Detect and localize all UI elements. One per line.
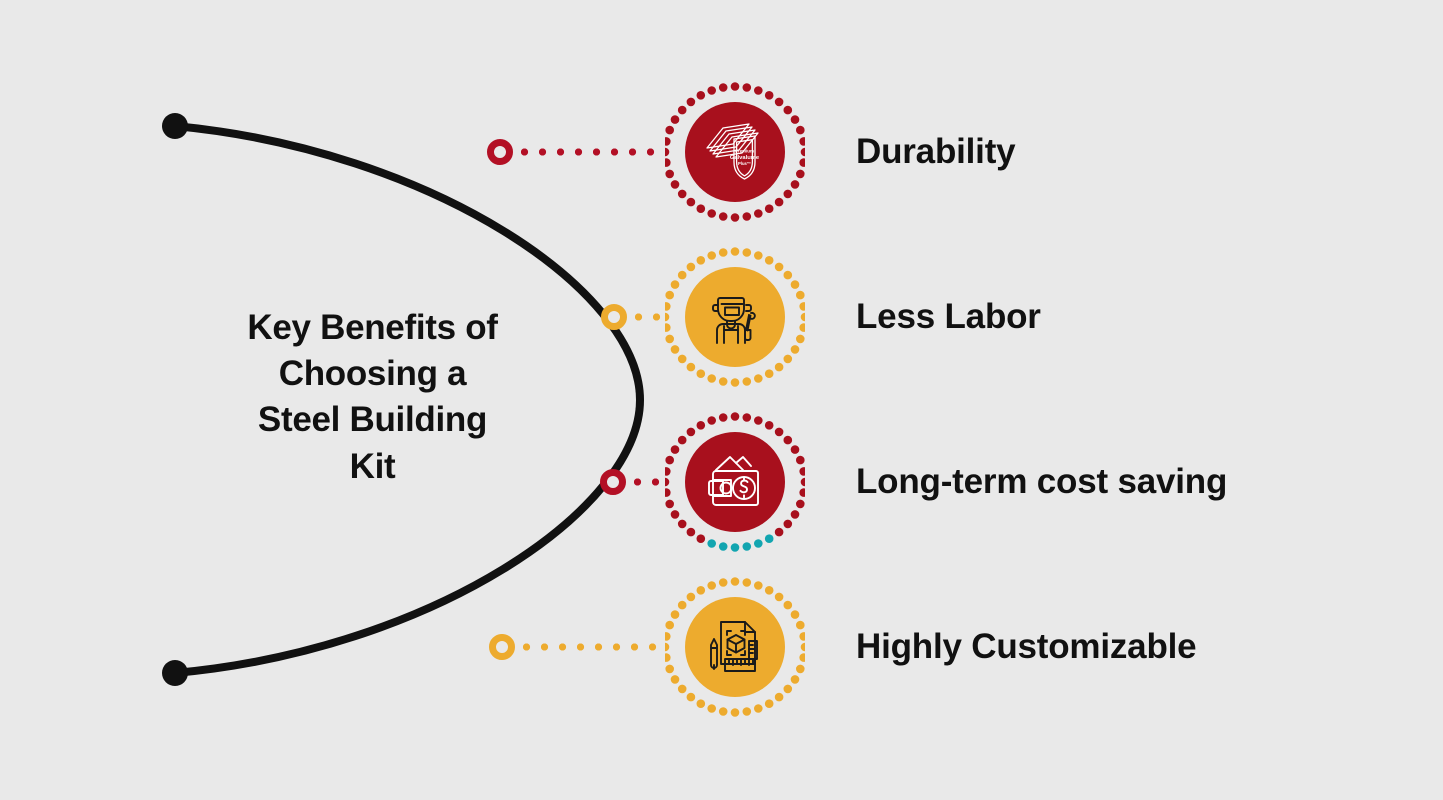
benefit-label-cost-saving: Long-term cost saving bbox=[856, 462, 1227, 502]
arc-endpoint-bottom-dot bbox=[162, 660, 188, 686]
welder-worker-icon bbox=[703, 285, 767, 349]
benefit-icon-badge-less-labor[interactable] bbox=[665, 247, 805, 387]
connector-line-durability bbox=[521, 149, 661, 156]
benefit-icon-badge-cost-saving[interactable] bbox=[665, 412, 805, 552]
connector-line-customizable bbox=[523, 644, 661, 651]
benefit-icon-badge-durability[interactable]: Premium Galvalume Plus™ bbox=[665, 82, 805, 222]
infographic-canvas: Key Benefits of Choosing a Steel Buildin… bbox=[0, 0, 1443, 800]
page-title-line-4: Kit bbox=[185, 444, 560, 490]
page-title-line-3: Steel Building bbox=[185, 397, 560, 443]
benefit-label-durability: Durability bbox=[856, 132, 1015, 172]
page-title-line-2: Choosing a bbox=[185, 351, 560, 397]
connector-line-cost-saving bbox=[634, 479, 664, 486]
arc-node-marker-less-labor[interactable] bbox=[601, 304, 627, 330]
arc-node-marker-cost-saving[interactable] bbox=[600, 469, 626, 495]
page-title: Key Benefits of Choosing a Steel Buildin… bbox=[185, 305, 560, 490]
page-title-line-1: Key Benefits of bbox=[185, 305, 560, 351]
shield-caption-line-3: Plus™ bbox=[738, 161, 751, 166]
badge-dotted-ring-teal-segment bbox=[707, 534, 773, 551]
benefit-label-less-labor: Less Labor bbox=[856, 297, 1041, 337]
galvalume-shield-icon: Premium Galvalume Plus™ bbox=[703, 120, 767, 184]
arc-node-marker-customizable[interactable] bbox=[489, 634, 515, 660]
arc-node-marker-durability[interactable] bbox=[487, 139, 513, 165]
connector-line-less-labor bbox=[635, 314, 663, 321]
benefit-label-customizable: Highly Customizable bbox=[856, 627, 1196, 667]
shield-caption-line-1: Premium bbox=[735, 149, 754, 154]
benefit-icon-badge-customizable[interactable] bbox=[665, 577, 805, 717]
wallet-dollar-icon bbox=[703, 450, 767, 514]
blueprint-cube-icon bbox=[703, 615, 767, 679]
arc-endpoint-top-dot bbox=[162, 113, 188, 139]
